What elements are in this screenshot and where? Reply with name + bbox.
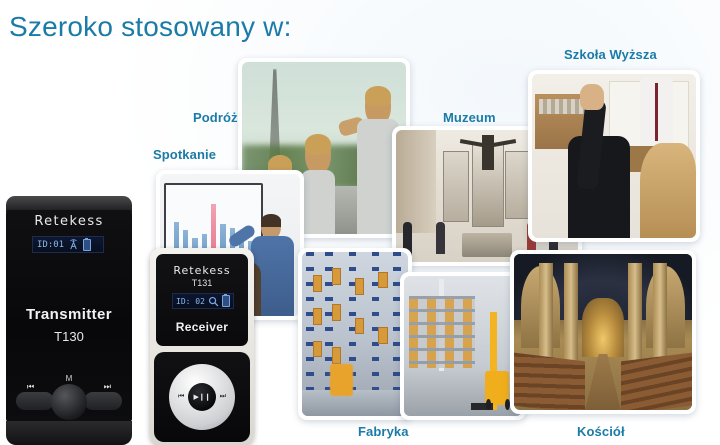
prev-button[interactable] <box>16 392 54 410</box>
battery-icon <box>222 295 230 307</box>
photo-card-warehouse-racks <box>298 248 412 420</box>
lcd-id-value: ID:01 <box>37 240 64 250</box>
column <box>653 263 667 366</box>
brand-label: Retekess <box>6 214 132 229</box>
warehouse-floor <box>302 390 408 416</box>
raised-hand <box>580 84 605 110</box>
photo-warehouse-forklift <box>404 276 522 416</box>
exhibit-plinth <box>462 233 513 257</box>
statue-exhibit <box>482 135 495 169</box>
next-icon: ⏭ <box>104 382 111 392</box>
menu-button-label[interactable]: M <box>66 374 73 383</box>
play-pause-icon[interactable]: ▶❙❙ <box>193 393 210 401</box>
photo-card-warehouse-forklift <box>400 272 526 420</box>
receiver-front-panel: Retekess T131 ID: 02 Receiver <box>156 254 248 346</box>
receiver-model: T131 <box>156 278 248 288</box>
transmitter-lcd-screen: ID:01 <box>32 236 104 253</box>
click-wheel[interactable]: ⏮ ⏭ ▶❙❙ <box>169 364 235 430</box>
storage-shelving <box>409 296 475 369</box>
receiver-device-t131: Retekess T131 ID: 02 Receiver ⏮ ⏭ ▶❙❙ <box>150 248 254 445</box>
photo-card-church <box>510 250 696 414</box>
center-wheel-button[interactable] <box>51 384 87 420</box>
altar-apse <box>582 298 625 357</box>
search-icon <box>208 296 219 307</box>
photo-warehouse-racks <box>302 252 408 416</box>
battery-icon <box>83 239 91 251</box>
gallery-wall <box>396 130 436 233</box>
visitor-figure <box>436 222 445 254</box>
photo-school <box>532 74 696 238</box>
lcd-id-value: ID: 02 <box>176 297 205 306</box>
column <box>628 263 642 366</box>
receiver-title: Receiver <box>156 320 248 334</box>
caption-spotkanie: Spotkanie <box>153 147 216 162</box>
slide-canvas: Szeroko stosowany w: <box>0 0 720 445</box>
caption-fabryka: Fabryka <box>358 424 409 439</box>
prev-icon[interactable]: ⏮ <box>178 393 184 401</box>
prev-icon: ⏮ <box>27 382 34 392</box>
teacher-figure <box>640 77 673 152</box>
caption-kosciol: Kościół <box>577 424 625 439</box>
display-case <box>505 151 531 219</box>
caption-muzeum: Muzeum <box>443 110 496 125</box>
forklift <box>482 312 513 410</box>
child-figure <box>301 134 335 234</box>
forklift <box>330 364 353 397</box>
pew-row <box>514 353 585 410</box>
transmitter-model: T130 <box>6 329 132 344</box>
transmitter-device-t130: Retekess ID:01 Transmitter T130 M ⏮ ⏭ <box>6 196 132 445</box>
caption-podroz: Podróż <box>193 110 238 125</box>
caption-szkola-wyzsza: Szkoła Wyższa <box>564 47 657 62</box>
broadcast-tower-icon <box>68 239 79 250</box>
transmitter-title: Transmitter <box>6 306 132 323</box>
next-button[interactable] <box>84 392 122 410</box>
display-case <box>443 151 469 222</box>
photo-church <box>514 254 692 410</box>
center-aisle <box>585 354 621 410</box>
photo-card-school <box>528 70 700 242</box>
pew-row <box>621 353 692 410</box>
next-icon[interactable]: ⏭ <box>220 393 226 401</box>
student-hair <box>640 143 696 238</box>
page-title: Szeroko stosowany w: <box>9 11 292 43</box>
device-bottom-shell <box>6 421 132 445</box>
receiver-lcd-screen: ID: 02 <box>172 293 234 309</box>
brand-label: Retekess <box>156 264 248 277</box>
column <box>564 263 578 366</box>
column <box>539 263 553 366</box>
receiver-control-area: ⏮ ⏭ ▶❙❙ <box>154 352 250 442</box>
